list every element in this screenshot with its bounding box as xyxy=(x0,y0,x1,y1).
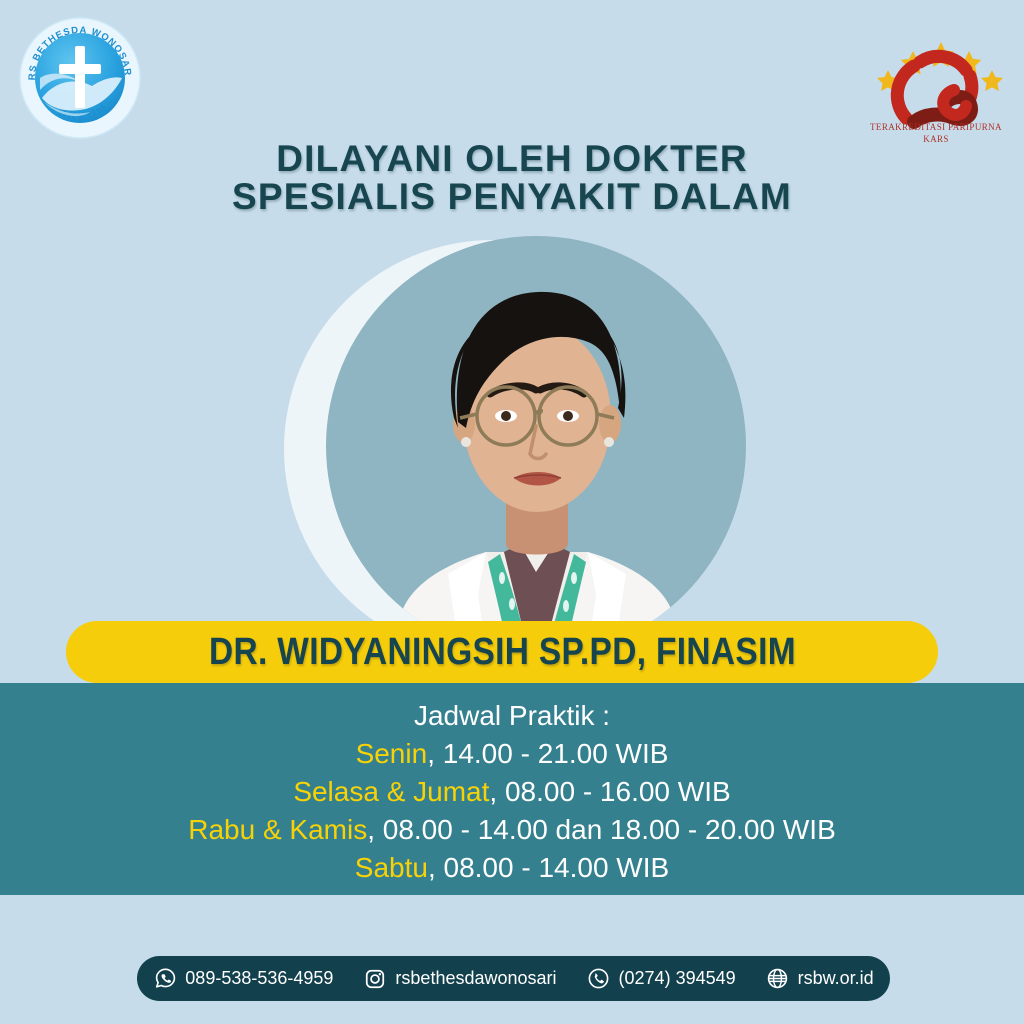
headline-line-1: DILAYANI OLEH DOKTER xyxy=(276,138,748,179)
schedule-day: Rabu & Kamis xyxy=(188,814,367,845)
contact-instagram-label: rsbethesdawonosari xyxy=(395,968,556,989)
accreditation-caption-line1: TERAKREDITASI PARIPURNA xyxy=(852,121,1020,133)
schedule-row: Sabtu, 08.00 - 14.00 WIB xyxy=(0,849,1024,887)
schedule-day: Selasa & Jumat xyxy=(293,776,489,807)
doctor-name-label: DR. WIDYANINGSIH SP.PD, FINASIM xyxy=(209,631,796,674)
schedule-band: Jadwal Praktik : Senin, 14.00 - 21.00 WI… xyxy=(0,683,1024,895)
schedule-title: Jadwal Praktik : xyxy=(0,697,1024,735)
contact-bar: 089-538-536-4959 rsbethesdawonosari (027… xyxy=(137,956,890,1001)
doctor-portrait-image xyxy=(278,222,756,682)
contact-website-label: rsbw.or.id xyxy=(798,968,874,989)
schedule-day: Sabtu xyxy=(355,852,428,883)
contact-phone-label: (0274) 394549 xyxy=(619,968,736,989)
phone-icon xyxy=(587,967,611,991)
contact-website[interactable]: rsbw.or.id xyxy=(766,967,874,991)
schedule-content: Jadwal Praktik : Senin, 14.00 - 21.00 WI… xyxy=(0,697,1024,887)
instagram-icon xyxy=(363,967,387,991)
schedule-time: , 14.00 - 21.00 WIB xyxy=(427,738,668,769)
schedule-time: , 08.00 - 14.00 WIB xyxy=(428,852,669,883)
schedule-day: Senin xyxy=(356,738,428,769)
globe-icon xyxy=(766,967,790,991)
poster-canvas: RS BETHESDA WONOSARI YAKKUM xyxy=(0,0,1024,1024)
whatsapp-icon xyxy=(153,967,177,991)
contact-whatsapp-label: 089-538-536-4959 xyxy=(185,968,333,989)
contact-phone[interactable]: (0274) 394549 xyxy=(587,967,736,991)
schedule-row: Rabu & Kamis, 08.00 - 14.00 dan 18.00 - … xyxy=(0,811,1024,849)
schedule-time: , 08.00 - 14.00 dan 18.00 - 20.00 WIB xyxy=(367,814,836,845)
doctor-name-banner: DR. WIDYANINGSIH SP.PD, FINASIM xyxy=(66,621,938,683)
contact-whatsapp[interactable]: 089-538-536-4959 xyxy=(153,967,333,991)
poster-headline: DILAYANI OLEH DOKTER SPESIALIS PENYAKIT … xyxy=(0,140,1024,216)
headline-line-2: SPESIALIS PENYAKIT DALAM xyxy=(0,178,1024,216)
contact-instagram[interactable]: rsbethesdawonosari xyxy=(363,967,556,991)
doctor-photo xyxy=(278,222,756,682)
schedule-row: Selasa & Jumat, 08.00 - 16.00 WIB xyxy=(0,773,1024,811)
schedule-time: , 08.00 - 16.00 WIB xyxy=(489,776,730,807)
schedule-row: Senin, 14.00 - 21.00 WIB xyxy=(0,735,1024,773)
hospital-logo: RS BETHESDA WONOSARI YAKKUM xyxy=(18,16,142,140)
